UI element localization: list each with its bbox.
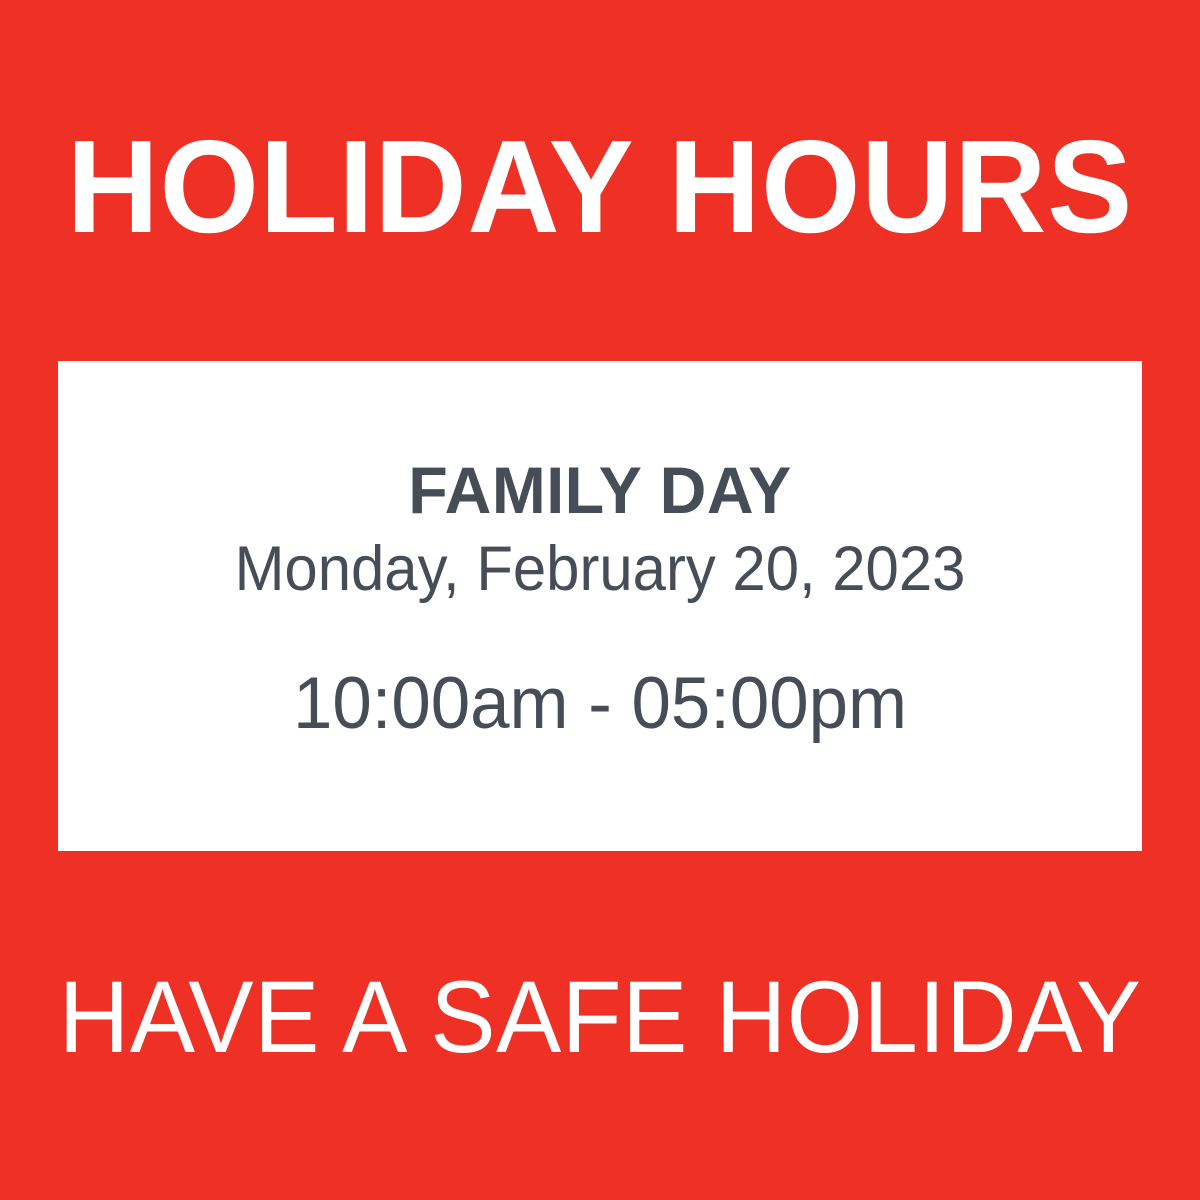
footer-message: HAVE A SAFE HOLIDAY — [59, 966, 1142, 1068]
holiday-info-card: FAMILY DAY Monday, February 20, 2023 10:… — [58, 361, 1142, 851]
event-name: FAMILY DAY — [108, 456, 1092, 526]
holiday-info-card-content: FAMILY DAY Monday, February 20, 2023 10:… — [98, 456, 1102, 744]
footer-band: HAVE A SAFE HOLIDAY — [0, 851, 1200, 1200]
holiday-hours-poster: HOLIDAY HOURS FAMILY DAY Monday, Februar… — [0, 0, 1200, 1200]
event-hours: 10:00am - 05:00pm — [113, 664, 1087, 744]
page-title: HOLIDAY HOURS — [67, 121, 1133, 253]
event-date: Monday, February 20, 2023 — [123, 532, 1077, 608]
headline-band: HOLIDAY HOURS — [0, 0, 1200, 361]
